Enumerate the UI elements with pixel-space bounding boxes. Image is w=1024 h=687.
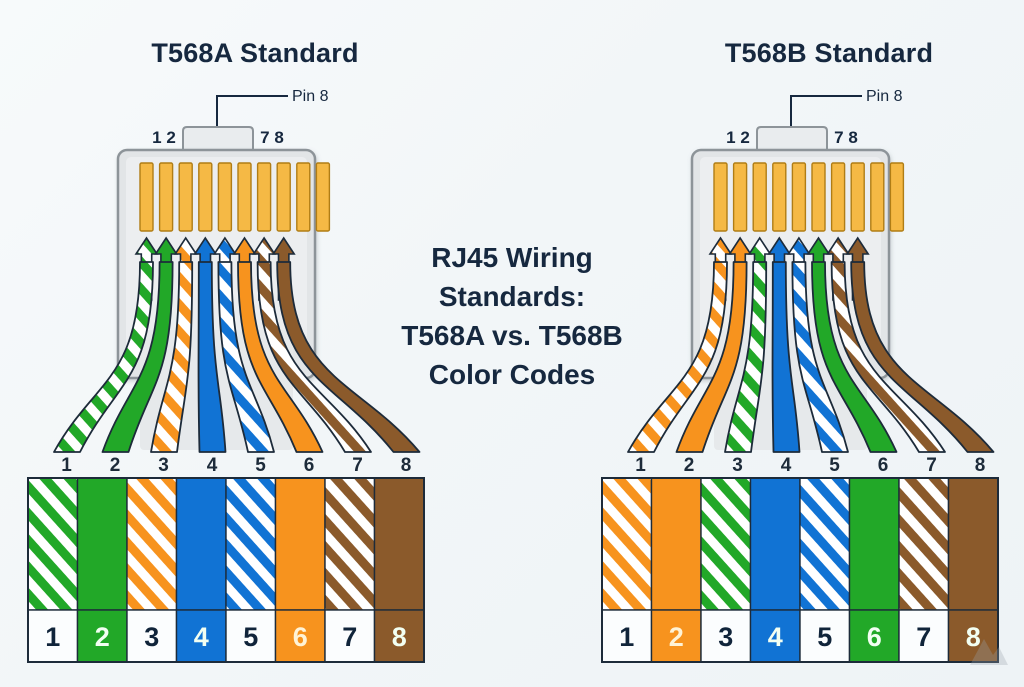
pin-number-label: 4	[194, 622, 209, 652]
wire-tip-number: 5	[255, 455, 266, 476]
color-band	[127, 478, 177, 610]
gold-pin	[890, 163, 903, 231]
wire-tip-number: 3	[158, 455, 169, 476]
wire-tip-number: 6	[304, 455, 315, 476]
pin-label-right: 7 8	[260, 128, 284, 147]
wire-tip-number: 7	[926, 455, 937, 476]
pin-number-label: 6	[293, 622, 308, 652]
gold-pin	[140, 163, 153, 231]
pin-number-label: 4	[768, 622, 783, 652]
color-band	[800, 478, 850, 610]
panel-title-t568b: T568B Standard	[594, 38, 1024, 69]
wire-tip-number: 6	[878, 455, 889, 476]
gold-pin	[871, 163, 884, 231]
pin-number-label: 8	[392, 622, 407, 652]
wire-tip-number: 1	[61, 455, 72, 476]
pin-number-label: 1	[45, 622, 60, 652]
gold-pin	[258, 163, 271, 231]
main-title: RJ45 Wiring Standards: T568A vs. T568B C…	[352, 238, 672, 394]
wire-tip-number: 5	[829, 455, 840, 476]
gold-pin	[179, 163, 192, 231]
pin-number-label: 5	[817, 622, 832, 652]
gold-pin	[277, 163, 290, 231]
wire-tip-number: 2	[110, 455, 121, 476]
panel-title-t568a: T568A Standard	[20, 38, 490, 69]
connector-latch	[757, 127, 827, 151]
color-band	[28, 478, 78, 610]
pin-label-left: 1 2	[152, 128, 176, 147]
color-band	[325, 478, 375, 610]
color-band	[226, 478, 276, 610]
gold-pin	[218, 163, 231, 231]
gold-pin	[832, 163, 845, 231]
pin8-label-t568b: Pin 8	[866, 88, 902, 106]
rj45-wiring-diagram: T568A Standard Pin 8 1 27 81234567812345…	[0, 0, 1024, 687]
color-band	[701, 478, 751, 610]
pin-label-left: 1 2	[726, 128, 750, 147]
gold-pin	[199, 163, 212, 231]
wire-tip-number: 8	[975, 455, 986, 476]
gold-pin	[714, 163, 727, 231]
color-band	[177, 478, 227, 610]
color-band	[652, 478, 702, 610]
color-band	[276, 478, 326, 610]
pin-number-label: 1	[619, 622, 634, 652]
color-band	[78, 478, 128, 610]
color-band	[751, 478, 801, 610]
color-band	[949, 478, 999, 610]
pin-number-label: 2	[95, 622, 110, 652]
gold-pin	[773, 163, 786, 231]
gold-pin	[316, 163, 329, 231]
main-title-line-4: Color Codes	[352, 355, 672, 394]
pin-number-label: 3	[144, 622, 159, 652]
wire-tip-number: 7	[352, 455, 363, 476]
pin-number-label: 3	[718, 622, 733, 652]
wire-tip-number: 3	[732, 455, 743, 476]
gold-pin	[792, 163, 805, 231]
color-band	[602, 478, 652, 610]
pin-number-label: 6	[867, 622, 882, 652]
pin-number-label: 2	[669, 622, 684, 652]
wire-tip-number: 4	[207, 455, 218, 476]
color-band	[899, 478, 949, 610]
gold-pin	[812, 163, 825, 231]
pin-number-label: 7	[916, 622, 931, 652]
pin-number-label: 7	[342, 622, 357, 652]
main-title-line-1: RJ45 Wiring	[352, 238, 672, 277]
gold-pin	[160, 163, 173, 231]
main-title-line-2: Standards:	[352, 277, 672, 316]
pin-label-right: 7 8	[834, 128, 858, 147]
wire-tip-number: 4	[781, 455, 792, 476]
color-band	[375, 478, 425, 610]
gold-pin	[851, 163, 864, 231]
pin8-label-t568a: Pin 8	[292, 88, 328, 106]
wire-tip-number: 1	[635, 455, 646, 476]
gold-pin	[753, 163, 766, 231]
gold-pin	[734, 163, 747, 231]
gold-pin	[238, 163, 251, 231]
color-band	[850, 478, 900, 610]
wire-tip-number: 2	[684, 455, 695, 476]
wire-tip-number: 8	[401, 455, 412, 476]
watermark-icon	[966, 629, 1010, 669]
main-title-line-3: T568A vs. T568B	[352, 316, 672, 355]
pin-number-label: 5	[243, 622, 258, 652]
gold-pin	[297, 163, 310, 231]
connector-latch	[183, 127, 253, 151]
